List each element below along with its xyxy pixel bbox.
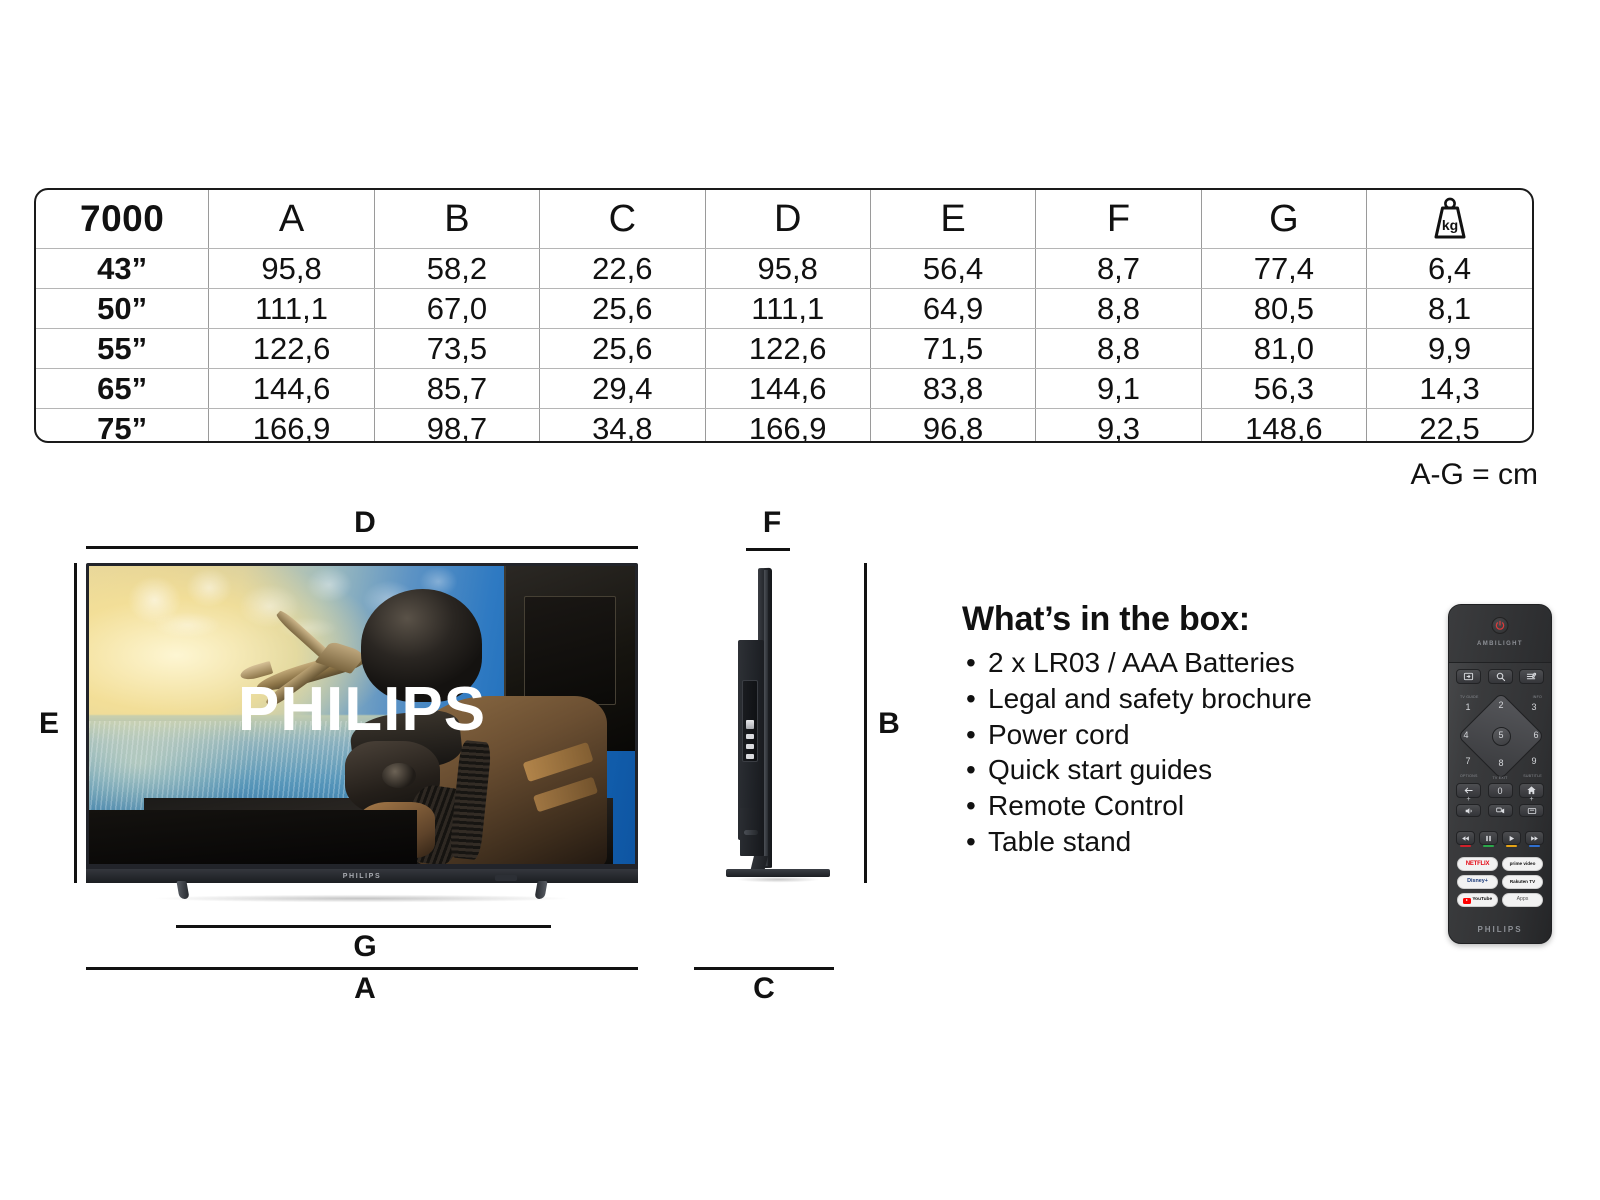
ambilight-label: AMBILIGHT — [1449, 641, 1551, 647]
cell-e: 71,5 — [870, 328, 1035, 368]
cell-b: 85,7 — [374, 368, 539, 408]
key-sub-info: INFO — [1533, 695, 1542, 699]
remote-control: AMBILIGHT TV GUIDE INFO — [1448, 604, 1552, 944]
dim-label-a: A — [345, 974, 385, 1004]
tv-cable-clip — [744, 830, 758, 835]
cell-b: 73,5 — [374, 328, 539, 368]
tv-port-usb — [746, 734, 754, 739]
screen-brand-overlay: PHILIPS — [89, 679, 635, 741]
cell-b: 58,2 — [374, 248, 539, 288]
cell-g: 80,5 — [1201, 288, 1366, 328]
channel-plus-label: + — [1529, 796, 1533, 803]
tv-side-view — [726, 568, 836, 900]
cell-e: 56,4 — [870, 248, 1035, 288]
cell-e: 83,8 — [870, 368, 1035, 408]
key-2[interactable]: 2 — [1494, 701, 1508, 710]
cell-g: 81,0 — [1201, 328, 1366, 368]
cell-weight: 6,4 — [1367, 248, 1532, 288]
dim-label-f: F — [752, 508, 792, 538]
table-row: 75” 166,9 98,7 34,8 166,9 96,8 9,3 148,6… — [36, 408, 1532, 443]
volume-icon[interactable]: + — [1456, 804, 1481, 817]
remote-keypad-dpad: TV GUIDE INFO OPTIONS SUBTITLE 1 2 3 4 5… — [1457, 693, 1545, 779]
whats-in-the-box-section: What’s in the box: 2 x LR03 / AAA Batter… — [962, 600, 1382, 860]
cell-d: 144,6 — [705, 368, 870, 408]
table-header-row: 7000 A B C D E F G kg — [36, 190, 1532, 248]
dim-line-e — [74, 563, 77, 883]
row-size: 55” — [36, 328, 209, 368]
remote-transport-row — [1456, 831, 1544, 845]
dimensions-table: 7000 A B C D E F G kg — [34, 188, 1534, 443]
cell-c: 22,6 — [540, 248, 705, 288]
rewind-icon[interactable] — [1456, 831, 1475, 845]
spec-sheet-page: 7000 A B C D E F G kg — [0, 0, 1600, 1200]
key-sub-subtitle: SUBTITLE — [1523, 774, 1542, 778]
cell-a: 95,8 — [209, 248, 374, 288]
dim-line-c — [694, 967, 834, 970]
list-item: Quick start guides — [962, 752, 1382, 788]
key-7[interactable]: 7 — [1461, 757, 1475, 766]
table-col-c: C — [540, 190, 705, 248]
table-body: 43” 95,8 58,2 22,6 95,8 56,4 8,7 77,4 6,… — [36, 248, 1532, 443]
row-size: 43” — [36, 248, 209, 288]
play-record-icon[interactable] — [1488, 804, 1513, 817]
remote-top-section — [1449, 605, 1551, 663]
cell-c: 34,8 — [540, 408, 705, 443]
app-button-netflix[interactable]: NETFLIX — [1457, 857, 1498, 871]
key-4[interactable]: 4 — [1459, 731, 1473, 740]
box-title: What’s in the box: — [962, 600, 1382, 639]
cell-f: 8,8 — [1036, 328, 1201, 368]
table-row: 55” 122,6 73,5 25,6 122,6 71,5 8,8 81,0 … — [36, 328, 1532, 368]
key-sub-tv-guide: TV GUIDE — [1460, 695, 1479, 699]
power-icon[interactable] — [1492, 617, 1509, 634]
fast-forward-icon[interactable] — [1525, 831, 1544, 845]
cell-weight: 9,9 — [1367, 328, 1532, 368]
pause-icon[interactable] — [1479, 831, 1498, 845]
settings-sliders-icon[interactable] — [1519, 669, 1544, 684]
cell-e: 64,9 — [870, 288, 1035, 328]
table-col-d: D — [705, 190, 870, 248]
youtube-play-icon — [1463, 898, 1471, 904]
cell-d: 122,6 — [705, 328, 870, 368]
table-row: 65” 144,6 85,7 29,4 144,6 83,8 9,1 56,3 … — [36, 368, 1532, 408]
tv-side-panel-edge — [764, 570, 768, 866]
cell-e: 96,8 — [870, 408, 1035, 443]
app-button-youtube[interactable]: YouTube — [1457, 893, 1498, 907]
key-6[interactable]: 6 — [1529, 731, 1543, 740]
source-input-icon[interactable] — [1456, 669, 1481, 684]
dim-label-c: C — [744, 974, 784, 1004]
table-col-g: G — [1201, 190, 1366, 248]
app-label-youtube: YouTube — [1472, 898, 1492, 903]
row-size: 65” — [36, 368, 209, 408]
cell-weight: 22,5 — [1367, 408, 1532, 443]
cell-g: 77,4 — [1201, 248, 1366, 288]
remote-brand-label: PHILIPS — [1449, 925, 1551, 934]
cell-f: 8,7 — [1036, 248, 1201, 288]
tv-ir-receiver — [495, 875, 517, 881]
dim-line-g — [176, 925, 551, 928]
cell-g: 148,6 — [1201, 408, 1366, 443]
play-icon[interactable] — [1502, 831, 1521, 845]
units-note: A-G = cm — [1410, 458, 1538, 492]
list-item: Legal and safety brochure — [962, 681, 1382, 717]
table-col-a: A — [209, 190, 374, 248]
table-col-e: E — [870, 190, 1035, 248]
remote-function-row — [1456, 669, 1544, 684]
tv-front-shadow — [72, 894, 652, 903]
cell-b: 67,0 — [374, 288, 539, 328]
cell-f: 9,3 — [1036, 408, 1201, 443]
dim-line-f — [746, 548, 790, 551]
cell-a: 122,6 — [209, 328, 374, 368]
dim-line-b — [864, 563, 867, 883]
dim-label-d: D — [345, 508, 385, 538]
cell-c: 25,6 — [540, 288, 705, 328]
dim-label-e: E — [34, 709, 64, 739]
svg-text:kg: kg — [1441, 217, 1457, 233]
key-sub-options: OPTIONS — [1460, 774, 1478, 778]
table-row: 50” 111,1 67,0 25,6 111,1 64,9 8,8 80,5 … — [36, 288, 1532, 328]
table-col-b: B — [374, 190, 539, 248]
table-col-f: F — [1036, 190, 1201, 248]
tv-port-antenna — [746, 754, 754, 759]
weight-kg-icon: kg — [1429, 197, 1471, 241]
cell-a: 111,1 — [209, 288, 374, 328]
tv-bezel: PHILIPS PHILIPS — [86, 563, 638, 883]
volume-plus-label: + — [1466, 796, 1470, 803]
cockpit-dash — [89, 810, 417, 864]
tv-front-view: PHILIPS PHILIPS — [86, 563, 638, 883]
list-item: 2 x LR03 / AAA Batteries — [962, 645, 1382, 681]
dim-line-d — [86, 546, 638, 549]
cell-weight: 8,1 — [1367, 288, 1532, 328]
cell-a: 144,6 — [209, 368, 374, 408]
table-model-label: 7000 — [36, 190, 209, 248]
app-button-disney-plus[interactable]: Disney+ — [1457, 875, 1498, 889]
cell-c: 25,6 — [540, 328, 705, 368]
channel-icon[interactable]: + — [1519, 804, 1544, 817]
tv-port-hdmi — [746, 720, 754, 729]
row-size: 50” — [36, 288, 209, 328]
cell-d: 166,9 — [705, 408, 870, 443]
list-item: Power cord — [962, 717, 1382, 753]
cell-c: 29,4 — [540, 368, 705, 408]
tv-side-shadow — [720, 876, 836, 883]
key-9[interactable]: 9 — [1527, 757, 1541, 766]
cell-b: 98,7 — [374, 408, 539, 443]
key-0[interactable]: 0 — [1488, 783, 1513, 798]
key-3[interactable]: 3 — [1527, 703, 1541, 712]
key-1[interactable]: 1 — [1461, 703, 1475, 712]
tv-screen: PHILIPS — [89, 566, 635, 864]
cell-f: 9,1 — [1036, 368, 1201, 408]
table-col-weight: kg — [1367, 190, 1532, 248]
tv-bottom-bezel: PHILIPS — [86, 869, 638, 883]
row-size: 75” — [36, 408, 209, 443]
key-8[interactable]: 8 — [1494, 759, 1508, 768]
list-item: Table stand — [962, 824, 1382, 860]
list-item: Remote Control — [962, 788, 1382, 824]
remote-rocker-row: + + — [1456, 804, 1544, 817]
box-items-list: 2 x LR03 / AAA Batteries Legal and safet… — [962, 645, 1382, 860]
key-sub-tv-exit: TV EXIT — [1493, 776, 1508, 780]
app-button-rakuten-tv[interactable]: Rakuten TV — [1502, 875, 1543, 889]
cell-d: 95,8 — [705, 248, 870, 288]
dim-label-b: B — [874, 709, 904, 739]
dim-line-a — [86, 967, 638, 970]
cell-weight: 14,3 — [1367, 368, 1532, 408]
search-icon[interactable] — [1488, 669, 1513, 684]
tv-bezel-logo: PHILIPS — [343, 873, 381, 880]
key-5[interactable]: 5 — [1494, 731, 1508, 740]
app-button-apps[interactable]: Apps — [1502, 893, 1543, 907]
cell-f: 8,8 — [1036, 288, 1201, 328]
cell-a: 166,9 — [209, 408, 374, 443]
cell-d: 111,1 — [705, 288, 870, 328]
cell-g: 56,3 — [1201, 368, 1366, 408]
table-row: 43” 95,8 58,2 22,6 95,8 56,4 8,7 77,4 6,… — [36, 248, 1532, 288]
app-button-prime-video[interactable]: prime video — [1502, 857, 1543, 871]
remote-app-shortcuts: NETFLIX prime video Disney+ Rakuten TV Y… — [1457, 857, 1543, 911]
tv-port-aux — [746, 744, 754, 749]
dim-label-g: G — [345, 932, 385, 962]
